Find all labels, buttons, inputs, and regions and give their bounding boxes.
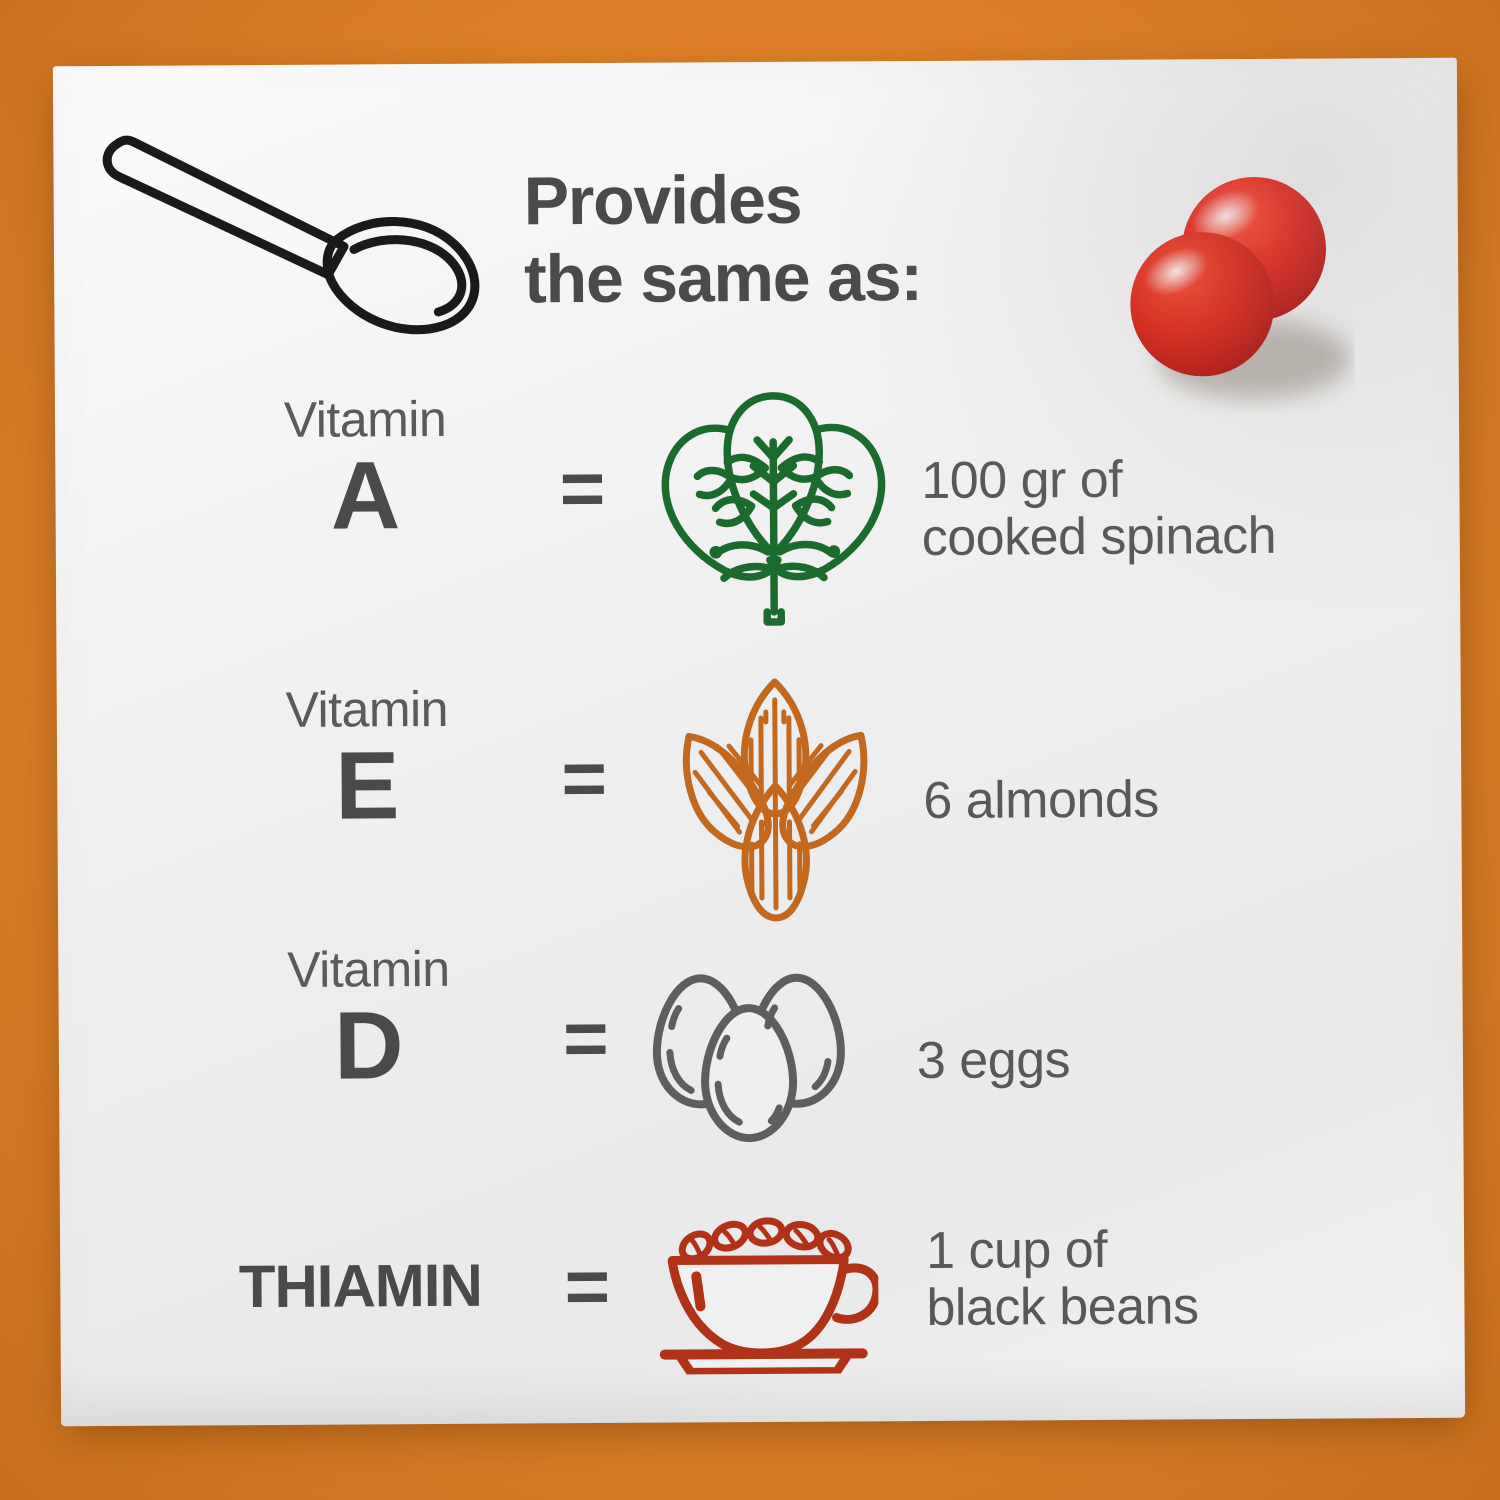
almonds-icon [665, 673, 887, 924]
row-thiamin: THIAMIN = [60, 1198, 1465, 1407]
desc-line-1: 1 cup of [926, 1221, 1198, 1280]
vitamin-a-description: 100 gr of cooked spinach [921, 451, 1276, 568]
vitamin-a-label: Vitamin A [215, 393, 516, 545]
row-vitamin-d: Vitamin D = [58, 938, 1463, 1147]
spinach-leaves-icon [653, 381, 895, 632]
vitamin-letter: E [217, 737, 518, 835]
cup-of-beans-icon [648, 1213, 879, 1374]
desc-line-2: cooked spinach [922, 508, 1277, 567]
equals-sign: = [529, 739, 639, 818]
row-vitamin-e: Vitamin E = [57, 678, 1462, 887]
vitamin-d-description: 3 eggs [917, 1032, 1070, 1090]
equals-sign: = [531, 999, 641, 1078]
sticky-note: Provides the same as: Vitamin A = [53, 58, 1465, 1427]
desc-line-1: 100 gr of [921, 451, 1276, 510]
red-pushpin-icon [1103, 153, 1355, 415]
spoon-icon [81, 102, 502, 345]
vitamin-prefix: Vitamin [217, 683, 517, 735]
thiamin-label: THIAMIN [190, 1255, 530, 1317]
row-vitamin-a: Vitamin A = [55, 388, 1460, 597]
title-line-2: the same as: [524, 239, 922, 319]
eggs-icon [628, 965, 869, 1146]
vitamin-e-description: 6 almonds [923, 772, 1159, 831]
equals-sign: = [527, 449, 637, 528]
vitamin-d-label: Vitamin D [218, 943, 519, 1095]
vitamin-letter: A [215, 447, 516, 545]
desc-line-1: 6 almonds [923, 772, 1159, 831]
title-line-1: Provides [523, 161, 921, 241]
note-surface: Provides the same as: Vitamin A = [53, 58, 1465, 1427]
thiamin-description: 1 cup of black beans [926, 1221, 1199, 1337]
desc-line-2: black beans [926, 1279, 1198, 1338]
vitamin-prefix: Vitamin [218, 943, 518, 995]
vitamin-letter: D [219, 997, 520, 1095]
vitamin-e-label: Vitamin E [217, 683, 518, 835]
equals-sign: = [532, 1247, 642, 1326]
vitamin-prefix: Vitamin [215, 393, 515, 445]
desc-line-1: 3 eggs [917, 1032, 1070, 1090]
note-title: Provides the same as: [523, 161, 922, 318]
thiamin-word: THIAMIN [190, 1255, 530, 1317]
